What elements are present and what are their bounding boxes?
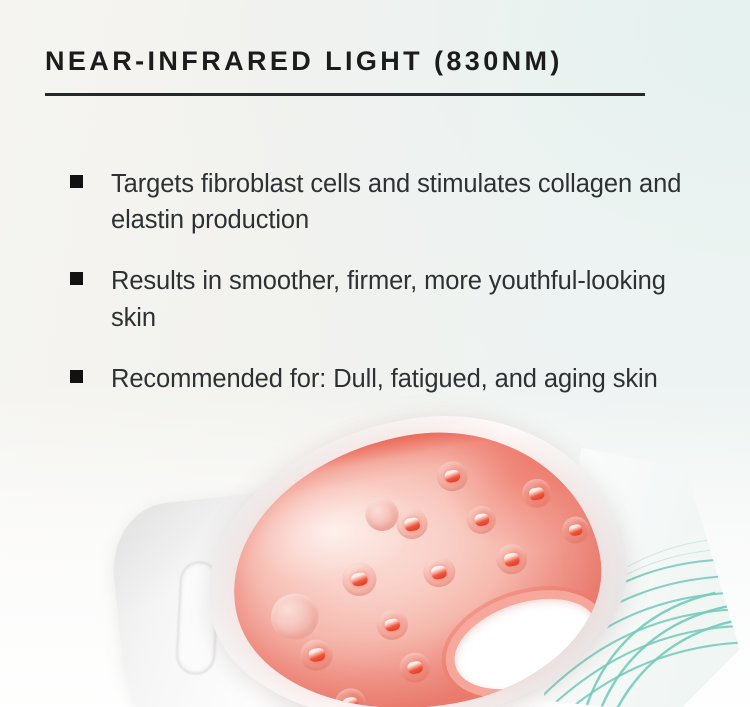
list-item: Recommended for: Dull, fatigued, and agi… bbox=[70, 361, 695, 397]
filled-square-bullet-icon bbox=[70, 272, 83, 285]
list-item: Targets fibroblast cells and stimulates … bbox=[70, 166, 695, 238]
feature-bullet-list: Targets fibroblast cells and stimulates … bbox=[70, 166, 695, 422]
list-item-label: Recommended for: Dull, fatigued, and agi… bbox=[111, 361, 658, 397]
header: NEAR-INFRARED LIGHT (830NM) bbox=[45, 46, 645, 96]
mask-glowing-light-panel bbox=[211, 406, 621, 707]
product-image-led-face-mask bbox=[0, 398, 750, 707]
page-title: NEAR-INFRARED LIGHT (830NM) bbox=[45, 46, 645, 77]
title-underline-rule bbox=[45, 93, 645, 96]
product-feature-card: NEAR-INFRARED LIGHT (830NM) Targets fibr… bbox=[0, 0, 750, 707]
list-item-label: Results in smoother, firmer, more youthf… bbox=[111, 263, 686, 335]
list-item: Results in smoother, firmer, more youthf… bbox=[70, 263, 695, 335]
filled-square-bullet-icon bbox=[70, 175, 83, 188]
filled-square-bullet-icon bbox=[70, 370, 83, 383]
list-item-label: Targets fibroblast cells and stimulates … bbox=[111, 166, 686, 238]
